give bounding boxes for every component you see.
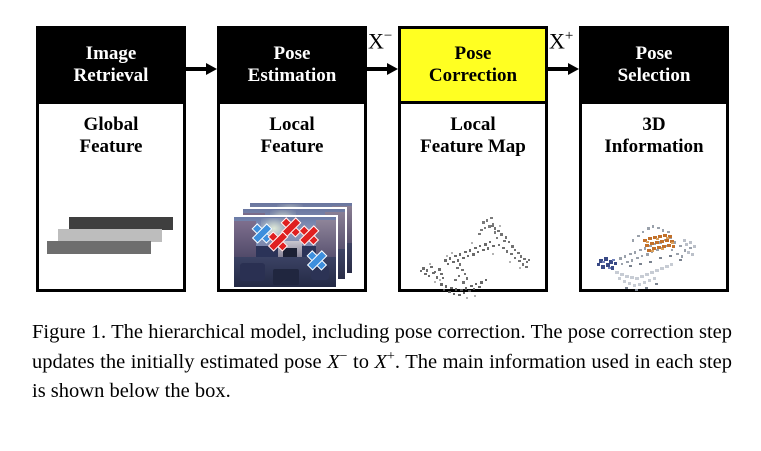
stage-pose-estimation: Pose Estimation Local Feature	[217, 26, 367, 292]
stage-title-line-1: Pose	[274, 43, 311, 65]
local-feature-map-illustration	[401, 159, 545, 289]
stage-subtitle-line-1: Local	[420, 114, 526, 136]
stage-header-image-retrieval: Image Retrieval	[39, 29, 183, 104]
arrow-label-base: X	[368, 28, 384, 53]
arrow-head	[568, 63, 579, 75]
stage-title-line-2: Selection	[618, 65, 691, 87]
caption-label: Figure 1.	[32, 321, 106, 343]
stage-title-line-2: Retrieval	[74, 65, 149, 87]
feature-bar-medium	[47, 241, 151, 254]
grayscale-point-cloud	[404, 197, 542, 303]
stage-title-line-1: Pose	[636, 43, 673, 65]
stage-subtitle-local-feature: Local Feature	[261, 114, 324, 159]
arrow-label-superscript: +	[565, 28, 573, 44]
global-feature-illustration	[39, 159, 183, 289]
stage-subtitle-line-1: 3D	[604, 114, 703, 136]
photo-thumbnail-front	[232, 215, 338, 289]
arrow-head	[206, 63, 217, 75]
arrow-label-x-minus: X−	[368, 28, 392, 54]
stage-title-line-1: Pose	[455, 43, 492, 65]
keypoint-marker-blue	[252, 224, 269, 241]
arrow-estimation-to-correction	[367, 63, 398, 75]
keypoint-marker-blue	[307, 250, 324, 267]
stage-header-pose-estimation: Pose Estimation	[220, 29, 364, 104]
scene-furniture-left	[240, 263, 264, 281]
feature-vector-bars	[39, 159, 183, 289]
stage-subtitle-3d-information: 3D Information	[604, 114, 703, 159]
stage-subtitle-line-2: Feature	[261, 136, 324, 158]
stage-header-pose-correction: Pose Correction	[401, 29, 545, 104]
stage-body-image-retrieval: Global Feature	[39, 104, 183, 289]
pipeline-diagram: Image Retrieval Global Feature	[0, 0, 761, 300]
figure-root: Image Retrieval Global Feature	[0, 0, 761, 451]
caption-math-x-plus: X+	[375, 351, 395, 373]
caption-math-base: X	[327, 351, 340, 373]
stage-body-pose-selection: 3D Information	[582, 104, 726, 289]
arrow-shaft	[186, 67, 208, 71]
stage-header-pose-selection: Pose Selection	[582, 29, 726, 104]
keypoint-marker-red	[268, 231, 285, 248]
caption-math-superscript: +	[387, 349, 395, 364]
stage-subtitle-global-feature: Global Feature	[80, 114, 143, 159]
caption-math-base: X	[375, 351, 388, 373]
stage-subtitle-line-1: Local	[261, 114, 324, 136]
arrow-retrieval-to-estimation	[186, 63, 217, 75]
local-feature-illustration	[220, 159, 364, 289]
stage-title-line-1: Image	[86, 43, 137, 65]
keypoint-marker-red	[300, 226, 317, 243]
stage-subtitle-local-feature-map: Local Feature Map	[420, 114, 526, 159]
3d-information-illustration	[582, 159, 726, 289]
arrow-shaft	[548, 67, 570, 71]
arrow-label-superscript: −	[384, 28, 392, 44]
stage-subtitle-line-2: Information	[604, 136, 703, 158]
color-point-cloud	[585, 197, 723, 303]
arrow-shaft	[367, 67, 389, 71]
scene-furniture-center	[273, 269, 300, 286]
caption-math-x-minus: X−	[327, 351, 347, 373]
arrow-head	[387, 63, 398, 75]
stage-body-pose-estimation: Local Feature	[220, 104, 364, 289]
stage-image-retrieval: Image Retrieval Global Feature	[36, 26, 186, 292]
stage-subtitle-line-2: Feature	[80, 136, 143, 158]
photo-stack	[230, 201, 354, 291]
arrow-label-x-plus: X+	[549, 28, 573, 54]
figure-caption: Figure 1. The hierarchical model, includ…	[32, 318, 732, 406]
stage-pose-correction: Pose Correction Local Feature Map	[398, 26, 548, 292]
stage-title-line-2: Estimation	[248, 65, 337, 87]
caption-math-superscript: −	[340, 349, 348, 364]
stage-title-line-2: Correction	[429, 65, 517, 87]
stage-subtitle-line-2: Feature Map	[420, 136, 526, 158]
caption-text-part-2: to	[348, 351, 375, 373]
arrow-correction-to-selection	[548, 63, 579, 75]
stage-pose-selection: Pose Selection 3D Information	[579, 26, 729, 292]
stage-body-pose-correction: Local Feature Map	[401, 104, 545, 289]
stage-subtitle-line-1: Global	[80, 114, 143, 136]
arrow-label-base: X	[549, 28, 565, 53]
